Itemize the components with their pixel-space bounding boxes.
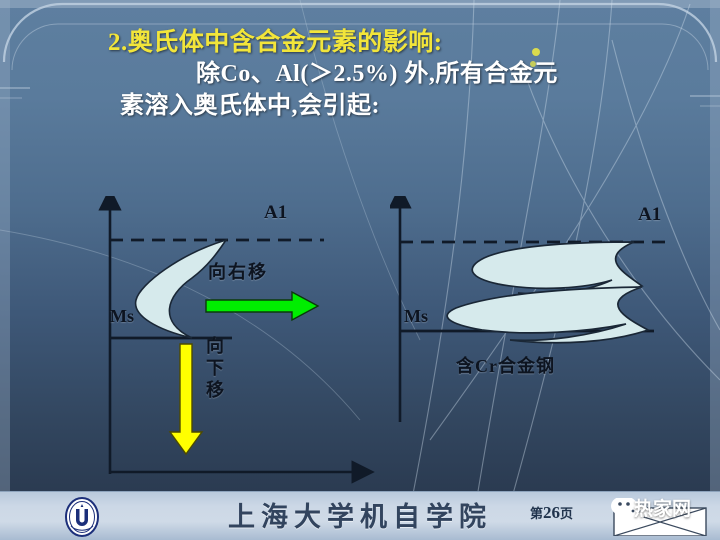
shanghai-university-emblem-icon: [62, 496, 102, 538]
right-shift-arrow: [206, 292, 318, 320]
label-shift-down: 向下移: [204, 336, 224, 402]
watermark-text: 热家网: [634, 494, 691, 521]
slide-heading: 2.奥氏体中含合金元素的影响:: [0, 28, 720, 58]
label-shift-right: 向右移: [208, 258, 268, 284]
down-shift-arrow: [170, 344, 202, 454]
diagram-plain-carbon: A1 Ms 向右移 向下移: [96, 196, 386, 486]
label-cr-alloy-steel: 含Cr合金钢: [456, 352, 555, 378]
label-a1-right: A1: [638, 204, 661, 226]
page-number: 第26页: [530, 503, 573, 523]
diagram-cr-alloy: A1 Ms 含Cr合金钢: [390, 196, 680, 426]
page-number-value: 26: [543, 503, 560, 522]
watermark: 热家网: [598, 498, 710, 536]
slide-body-line-1: 除Co、Al(＞2.5%) 外,所有合金元: [0, 58, 720, 90]
c-curve-shape: [136, 240, 226, 338]
page-suffix: 页: [560, 506, 573, 521]
ttt-curve-left-svg: [96, 196, 386, 486]
label-ms-left: Ms: [110, 306, 134, 327]
label-a1-left: A1: [264, 202, 287, 224]
ttt-curve-right-svg: [390, 196, 680, 426]
slide-canvas: 2.奥氏体中含合金元素的影响: 除Co、Al(＞2.5%) 外,所有合金元 素溶…: [0, 0, 720, 540]
title-block: 2.奥氏体中含合金元素的影响: 除Co、Al(＞2.5%) 外,所有合金元 素溶…: [0, 28, 720, 122]
c-curve-lower: [447, 287, 648, 343]
slide-body-line-2: 素溶入奥氏体中,会引起:: [0, 90, 720, 122]
label-ms-right: Ms: [404, 306, 428, 327]
page-prefix: 第: [530, 506, 543, 521]
